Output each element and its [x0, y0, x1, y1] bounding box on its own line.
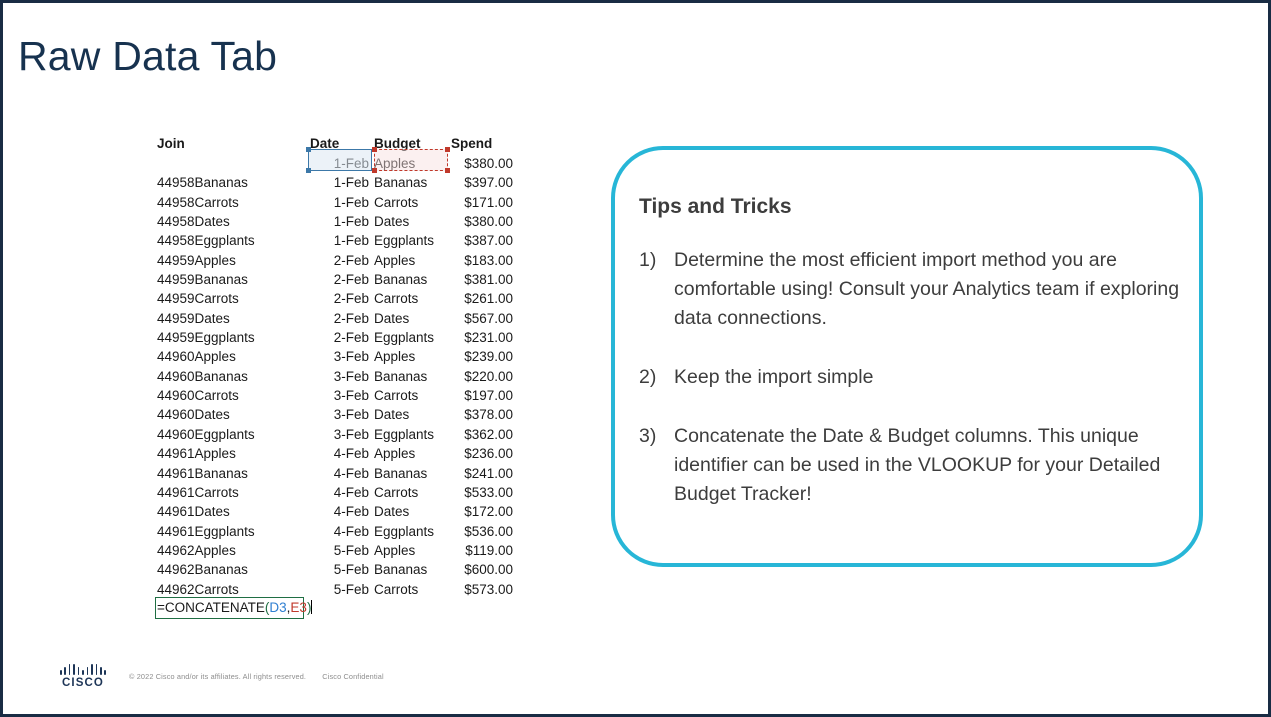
cell-date[interactable]: 1-Feb [307, 173, 369, 192]
cell-date[interactable]: 3-Feb [307, 386, 369, 405]
budget-selection-handle-bl[interactable] [372, 168, 377, 173]
budget-cell-selection-box[interactable] [374, 149, 448, 171]
cell-budget[interactable]: Apples [369, 347, 445, 366]
cell-budget[interactable]: Eggplants [369, 425, 445, 444]
tip-item: 3)Concatenate the Date & Budget columns.… [639, 422, 1184, 509]
cell-spend[interactable]: $183.00 [445, 251, 513, 270]
table-row[interactable]: 44959Bananas2-FebBananas$381.00 [155, 270, 513, 289]
cell-budget[interactable]: Apples [369, 444, 445, 463]
cell-date[interactable]: 4-Feb [307, 502, 369, 521]
tip-text: Keep the import simple [674, 363, 1184, 392]
cell-join[interactable]: 44961Carrots [155, 483, 307, 502]
cell-date[interactable]: 5-Feb [307, 580, 369, 599]
footer-confidential-label: Cisco Confidential [322, 672, 384, 681]
cell-date[interactable]: 3-Feb [307, 425, 369, 444]
slide-canvas: Raw Data Tab Join Date Budget Spend 1-Fe… [0, 0, 1271, 717]
tip-text: Determine the most efficient import meth… [674, 246, 1184, 333]
formula-ref-e3: E3 [290, 600, 307, 615]
cell-spend[interactable]: $381.00 [445, 270, 513, 289]
cell-spend[interactable]: $536.00 [445, 522, 513, 541]
cell-join[interactable]: 44959Dates [155, 309, 307, 328]
date-selection-handle-bl[interactable] [306, 168, 311, 173]
tips-heading: Tips and Tricks [639, 195, 792, 219]
cell-date[interactable]: 4-Feb [307, 522, 369, 541]
cisco-logo: CISCO [55, 664, 111, 689]
cell-budget[interactable]: Bananas [369, 560, 445, 579]
table-row[interactable]: 44960Apples3-FebApples$239.00 [155, 347, 513, 366]
cell-join[interactable]: 44961Dates [155, 502, 307, 521]
cell-budget[interactable]: Dates [369, 502, 445, 521]
cell-spend[interactable]: $119.00 [445, 541, 513, 560]
cell-date[interactable]: 2-Feb [307, 328, 369, 347]
table-row[interactable]: 44958Dates1-FebDates$380.00 [155, 212, 513, 231]
cell-join[interactable]: 44959Carrots [155, 289, 307, 308]
tips-and-tricks-callout: Tips and Tricks 1)Determine the most eff… [611, 146, 1203, 567]
cell-date[interactable]: 2-Feb [307, 270, 369, 289]
cell-join[interactable]: 44960Carrots [155, 386, 307, 405]
cell-join[interactable]: 44962Bananas [155, 560, 307, 579]
cell-date[interactable]: 1-Feb [307, 212, 369, 231]
cell-join[interactable]: 44962Apples [155, 541, 307, 560]
raw-data-spreadsheet: Join Date Budget Spend 1-FebApples$380.0… [155, 133, 513, 599]
cell-join[interactable]: 44958Carrots [155, 193, 307, 212]
table-row[interactable]: 44960Bananas3-FebBananas$220.00 [155, 367, 513, 386]
table-row[interactable]: 44961Dates4-FebDates$172.00 [155, 502, 513, 521]
table-row[interactable]: 44958Bananas1-FebBananas$397.00 [155, 173, 513, 192]
cell-budget[interactable]: Eggplants [369, 231, 445, 250]
cell-budget[interactable]: Carrots [369, 580, 445, 599]
cell-date[interactable]: 3-Feb [307, 347, 369, 366]
table-row[interactable]: 44959Carrots2-FebCarrots$261.00 [155, 289, 513, 308]
text-caret [311, 600, 312, 614]
cell-join[interactable]: 44960Dates [155, 405, 307, 424]
cell-budget[interactable]: Apples [369, 541, 445, 560]
cell-join[interactable]: 44960Bananas [155, 367, 307, 386]
cell-join[interactable]: 44958Dates [155, 212, 307, 231]
table-row[interactable]: 44961Bananas4-FebBananas$241.00 [155, 464, 513, 483]
tip-number: 2) [639, 363, 674, 392]
tips-list: 1)Determine the most efficient import me… [639, 246, 1184, 539]
cell-budget[interactable]: Bananas [369, 173, 445, 192]
column-header-join: Join [155, 133, 307, 154]
cell-date[interactable]: 2-Feb [307, 309, 369, 328]
cell-budget[interactable]: Bananas [369, 464, 445, 483]
table-row[interactable]: 44959Dates2-FebDates$567.00 [155, 309, 513, 328]
cisco-wordmark: CISCO [62, 677, 104, 689]
cell-spend[interactable]: $362.00 [445, 425, 513, 444]
column-header-spend: Spend [445, 133, 513, 154]
cell-date[interactable]: 4-Feb [307, 464, 369, 483]
table-row[interactable]: 44960Eggplants3-FebEggplants$362.00 [155, 425, 513, 444]
cell-date[interactable]: 5-Feb [307, 560, 369, 579]
cell-spend[interactable]: $171.00 [445, 193, 513, 212]
tip-text: Concatenate the Date & Budget columns. T… [674, 422, 1184, 509]
budget-selection-handle-br[interactable] [445, 168, 450, 173]
formula-function-name: =CONCATENATE [157, 600, 265, 615]
cell-spend[interactable]: $380.00 [445, 212, 513, 231]
table-row[interactable]: 44960Dates3-FebDates$378.00 [155, 405, 513, 424]
cell-budget[interactable]: Dates [369, 212, 445, 231]
cell-spend[interactable]: $231.00 [445, 328, 513, 347]
cell-spend[interactable]: $236.00 [445, 444, 513, 463]
table-body: 1-FebApples$380.0044958Bananas1-FebBanan… [155, 154, 513, 599]
cell-spend[interactable]: $573.00 [445, 580, 513, 599]
cell-spend[interactable]: $197.00 [445, 386, 513, 405]
cell-budget[interactable]: Dates [369, 405, 445, 424]
cell-spend[interactable]: $380.00 [445, 154, 513, 173]
cell-spend[interactable]: $241.00 [445, 464, 513, 483]
table-row[interactable]: 44961Eggplants4-FebEggplants$536.00 [155, 522, 513, 541]
table-row[interactable]: 44958Eggplants1-FebEggplants$387.00 [155, 231, 513, 250]
cell-date[interactable]: 1-Feb [307, 231, 369, 250]
cell-budget[interactable]: Carrots [369, 483, 445, 502]
cell-join[interactable]: 44958Bananas [155, 173, 307, 192]
cisco-logo-bars-icon [60, 664, 107, 675]
tip-number: 3) [639, 422, 674, 451]
cell-join[interactable]: 44960Eggplants [155, 425, 307, 444]
table-row[interactable]: 44958Carrots1-FebCarrots$171.00 [155, 193, 513, 212]
cell-date[interactable]: 5-Feb [307, 541, 369, 560]
cell-join[interactable]: 44958Eggplants [155, 231, 307, 250]
cell-join[interactable]: 44959Apples [155, 251, 307, 270]
cell-budget[interactable]: Eggplants [369, 328, 445, 347]
table-row[interactable]: 44961Apples4-FebApples$236.00 [155, 444, 513, 463]
formula-input-cell[interactable]: =CONCATENATE(D3,E3) [155, 597, 304, 619]
table-row[interactable]: 44960Carrots3-FebCarrots$197.00 [155, 386, 513, 405]
cell-spend[interactable]: $567.00 [445, 309, 513, 328]
cell-join[interactable]: 44961Bananas [155, 464, 307, 483]
cell-spend[interactable]: $378.00 [445, 405, 513, 424]
cell-date[interactable]: 1-Feb [307, 193, 369, 212]
table-row[interactable]: 44962Bananas5-FebBananas$600.00 [155, 560, 513, 579]
cell-spend[interactable]: $261.00 [445, 289, 513, 308]
tip-number: 1) [639, 246, 674, 275]
cell-date[interactable]: 2-Feb [307, 289, 369, 308]
date-cell-selection-box[interactable] [308, 149, 372, 171]
cell-spend[interactable]: $397.00 [445, 173, 513, 192]
cell-budget[interactable]: Eggplants [369, 522, 445, 541]
cell-budget[interactable]: Carrots [369, 193, 445, 212]
cell-spend[interactable]: $600.00 [445, 560, 513, 579]
cell-join[interactable]: 44959Eggplants [155, 328, 307, 347]
slide-footer: CISCO © 2022 Cisco and/or its affiliates… [55, 664, 384, 689]
cell-join[interactable]: 44961Eggplants [155, 522, 307, 541]
budget-selection-handle-tl[interactable] [372, 147, 377, 152]
cell-budget[interactable]: Dates [369, 309, 445, 328]
tip-item: 1)Determine the most efficient import me… [639, 246, 1184, 333]
cell-date[interactable]: 3-Feb [307, 405, 369, 424]
cell-date[interactable]: 4-Feb [307, 444, 369, 463]
tip-item: 2)Keep the import simple [639, 363, 1184, 392]
cell-spend[interactable]: $387.00 [445, 231, 513, 250]
cell-join[interactable]: 44959Bananas [155, 270, 307, 289]
footer-copyright: © 2022 Cisco and/or its affiliates. All … [129, 672, 306, 681]
cell-budget[interactable]: Bananas [369, 367, 445, 386]
formula-ref-d3: D3 [269, 600, 286, 615]
cell-spend[interactable]: $239.00 [445, 347, 513, 366]
footer-legal-text: © 2022 Cisco and/or its affiliates. All … [129, 672, 384, 681]
cell-spend[interactable]: $172.00 [445, 502, 513, 521]
cell-budget[interactable]: Apples [369, 251, 445, 270]
table-row[interactable]: 44959Apples2-FebApples$183.00 [155, 251, 513, 270]
cell-join[interactable]: 44960Apples [155, 347, 307, 366]
cell-budget[interactable]: Bananas [369, 270, 445, 289]
date-selection-handle-tl[interactable] [306, 147, 311, 152]
cell-spend[interactable]: $533.00 [445, 483, 513, 502]
cell-date[interactable]: 4-Feb [307, 483, 369, 502]
cell-budget[interactable]: Carrots [369, 386, 445, 405]
table-row[interactable]: 44961Carrots4-FebCarrots$533.00 [155, 483, 513, 502]
cell-spend[interactable]: $220.00 [445, 367, 513, 386]
cell-join[interactable]: 44961Apples [155, 444, 307, 463]
cell-date[interactable]: 3-Feb [307, 367, 369, 386]
table-row[interactable]: 44962Apples5-FebApples$119.00 [155, 541, 513, 560]
cell-date[interactable]: 2-Feb [307, 251, 369, 270]
budget-selection-handle-tr[interactable] [445, 147, 450, 152]
page-title: Raw Data Tab [18, 33, 277, 80]
table-row[interactable]: 44959Eggplants2-FebEggplants$231.00 [155, 328, 513, 347]
cell-budget[interactable]: Carrots [369, 289, 445, 308]
